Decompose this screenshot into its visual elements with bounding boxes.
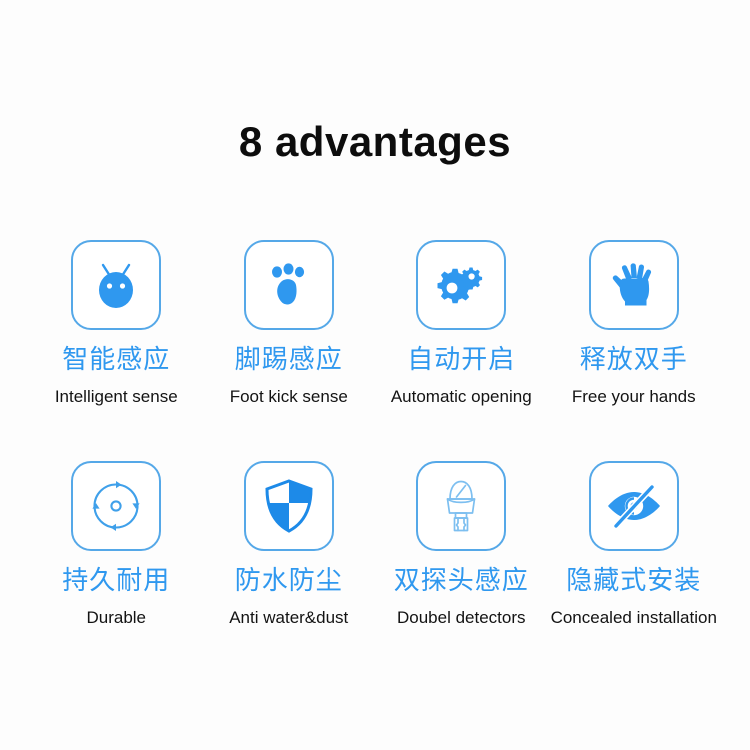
advantage-label-en: Free your hands: [572, 388, 696, 405]
icon-container: [71, 461, 161, 551]
page-title: 8 advantages: [0, 118, 750, 166]
infographic-page: 8 advantages 智能感应 In: [0, 0, 750, 750]
advantage-label-en: Durable: [86, 609, 146, 626]
advantage-label-en: Anti water&dust: [229, 609, 348, 626]
advantage-item[interactable]: 智能感应 Intelligent sense: [30, 240, 203, 455]
advantage-label-cn: 防水防尘: [235, 568, 343, 594]
advantages-row-top: 智能感应 Intelligent sense 脚踢感应 Foot ki: [30, 240, 720, 455]
advantages-row-bottom: 持久耐用 Durable: [30, 461, 720, 676]
advantage-label-en: Doubel detectors: [397, 609, 526, 626]
shield-cross-icon: [261, 476, 317, 536]
advantage-label-en: Intelligent sense: [55, 388, 178, 405]
advantage-label-cn: 智能感应: [62, 347, 170, 373]
footprint-icon: [260, 256, 318, 314]
eye-slash-icon: [603, 478, 665, 534]
advantage-item[interactable]: 释放双手 Free your hands: [548, 240, 721, 455]
icon-container: [416, 461, 506, 551]
advantage-item[interactable]: 防水防尘 Anti water&dust: [203, 461, 376, 676]
advantage-item[interactable]: 双探头感应 Doubel detectors: [375, 461, 548, 676]
advantage-label-cn: 自动开启: [407, 347, 515, 373]
advantages-grid: 智能感应 Intelligent sense 脚踢感应 Foot ki: [30, 240, 720, 676]
advantage-item[interactable]: 自动开启 Automatic opening: [375, 240, 548, 455]
advantage-item[interactable]: 持久耐用 Durable: [30, 461, 203, 676]
advantage-item[interactable]: 脚踢感应 Foot kick sense: [203, 240, 376, 455]
robot-head-icon: [86, 255, 146, 315]
icon-container: [244, 461, 334, 551]
rotation-arrows-icon: [87, 477, 145, 535]
gears-icon: [431, 255, 491, 315]
icon-container: [416, 240, 506, 330]
advantage-label-en: Concealed installation: [551, 609, 717, 626]
icon-container: [589, 240, 679, 330]
advantage-label-cn: 双探头感应: [394, 568, 529, 594]
icon-container: [244, 240, 334, 330]
advantage-item[interactable]: 隐藏式安装 Concealed installation: [548, 461, 721, 676]
advantage-label-cn: 脚踢感应: [235, 347, 343, 373]
open-hand-icon: [606, 256, 662, 314]
advantage-label-cn: 释放双手: [580, 347, 688, 373]
icon-container: [71, 240, 161, 330]
sensor-device-icon: [434, 475, 488, 537]
advantage-label-en: Automatic opening: [391, 388, 532, 405]
advantage-label-en: Foot kick sense: [230, 388, 348, 405]
icon-container: [589, 461, 679, 551]
advantage-label-cn: 持久耐用: [62, 568, 170, 594]
advantage-label-cn: 隐藏式安装: [566, 568, 701, 594]
